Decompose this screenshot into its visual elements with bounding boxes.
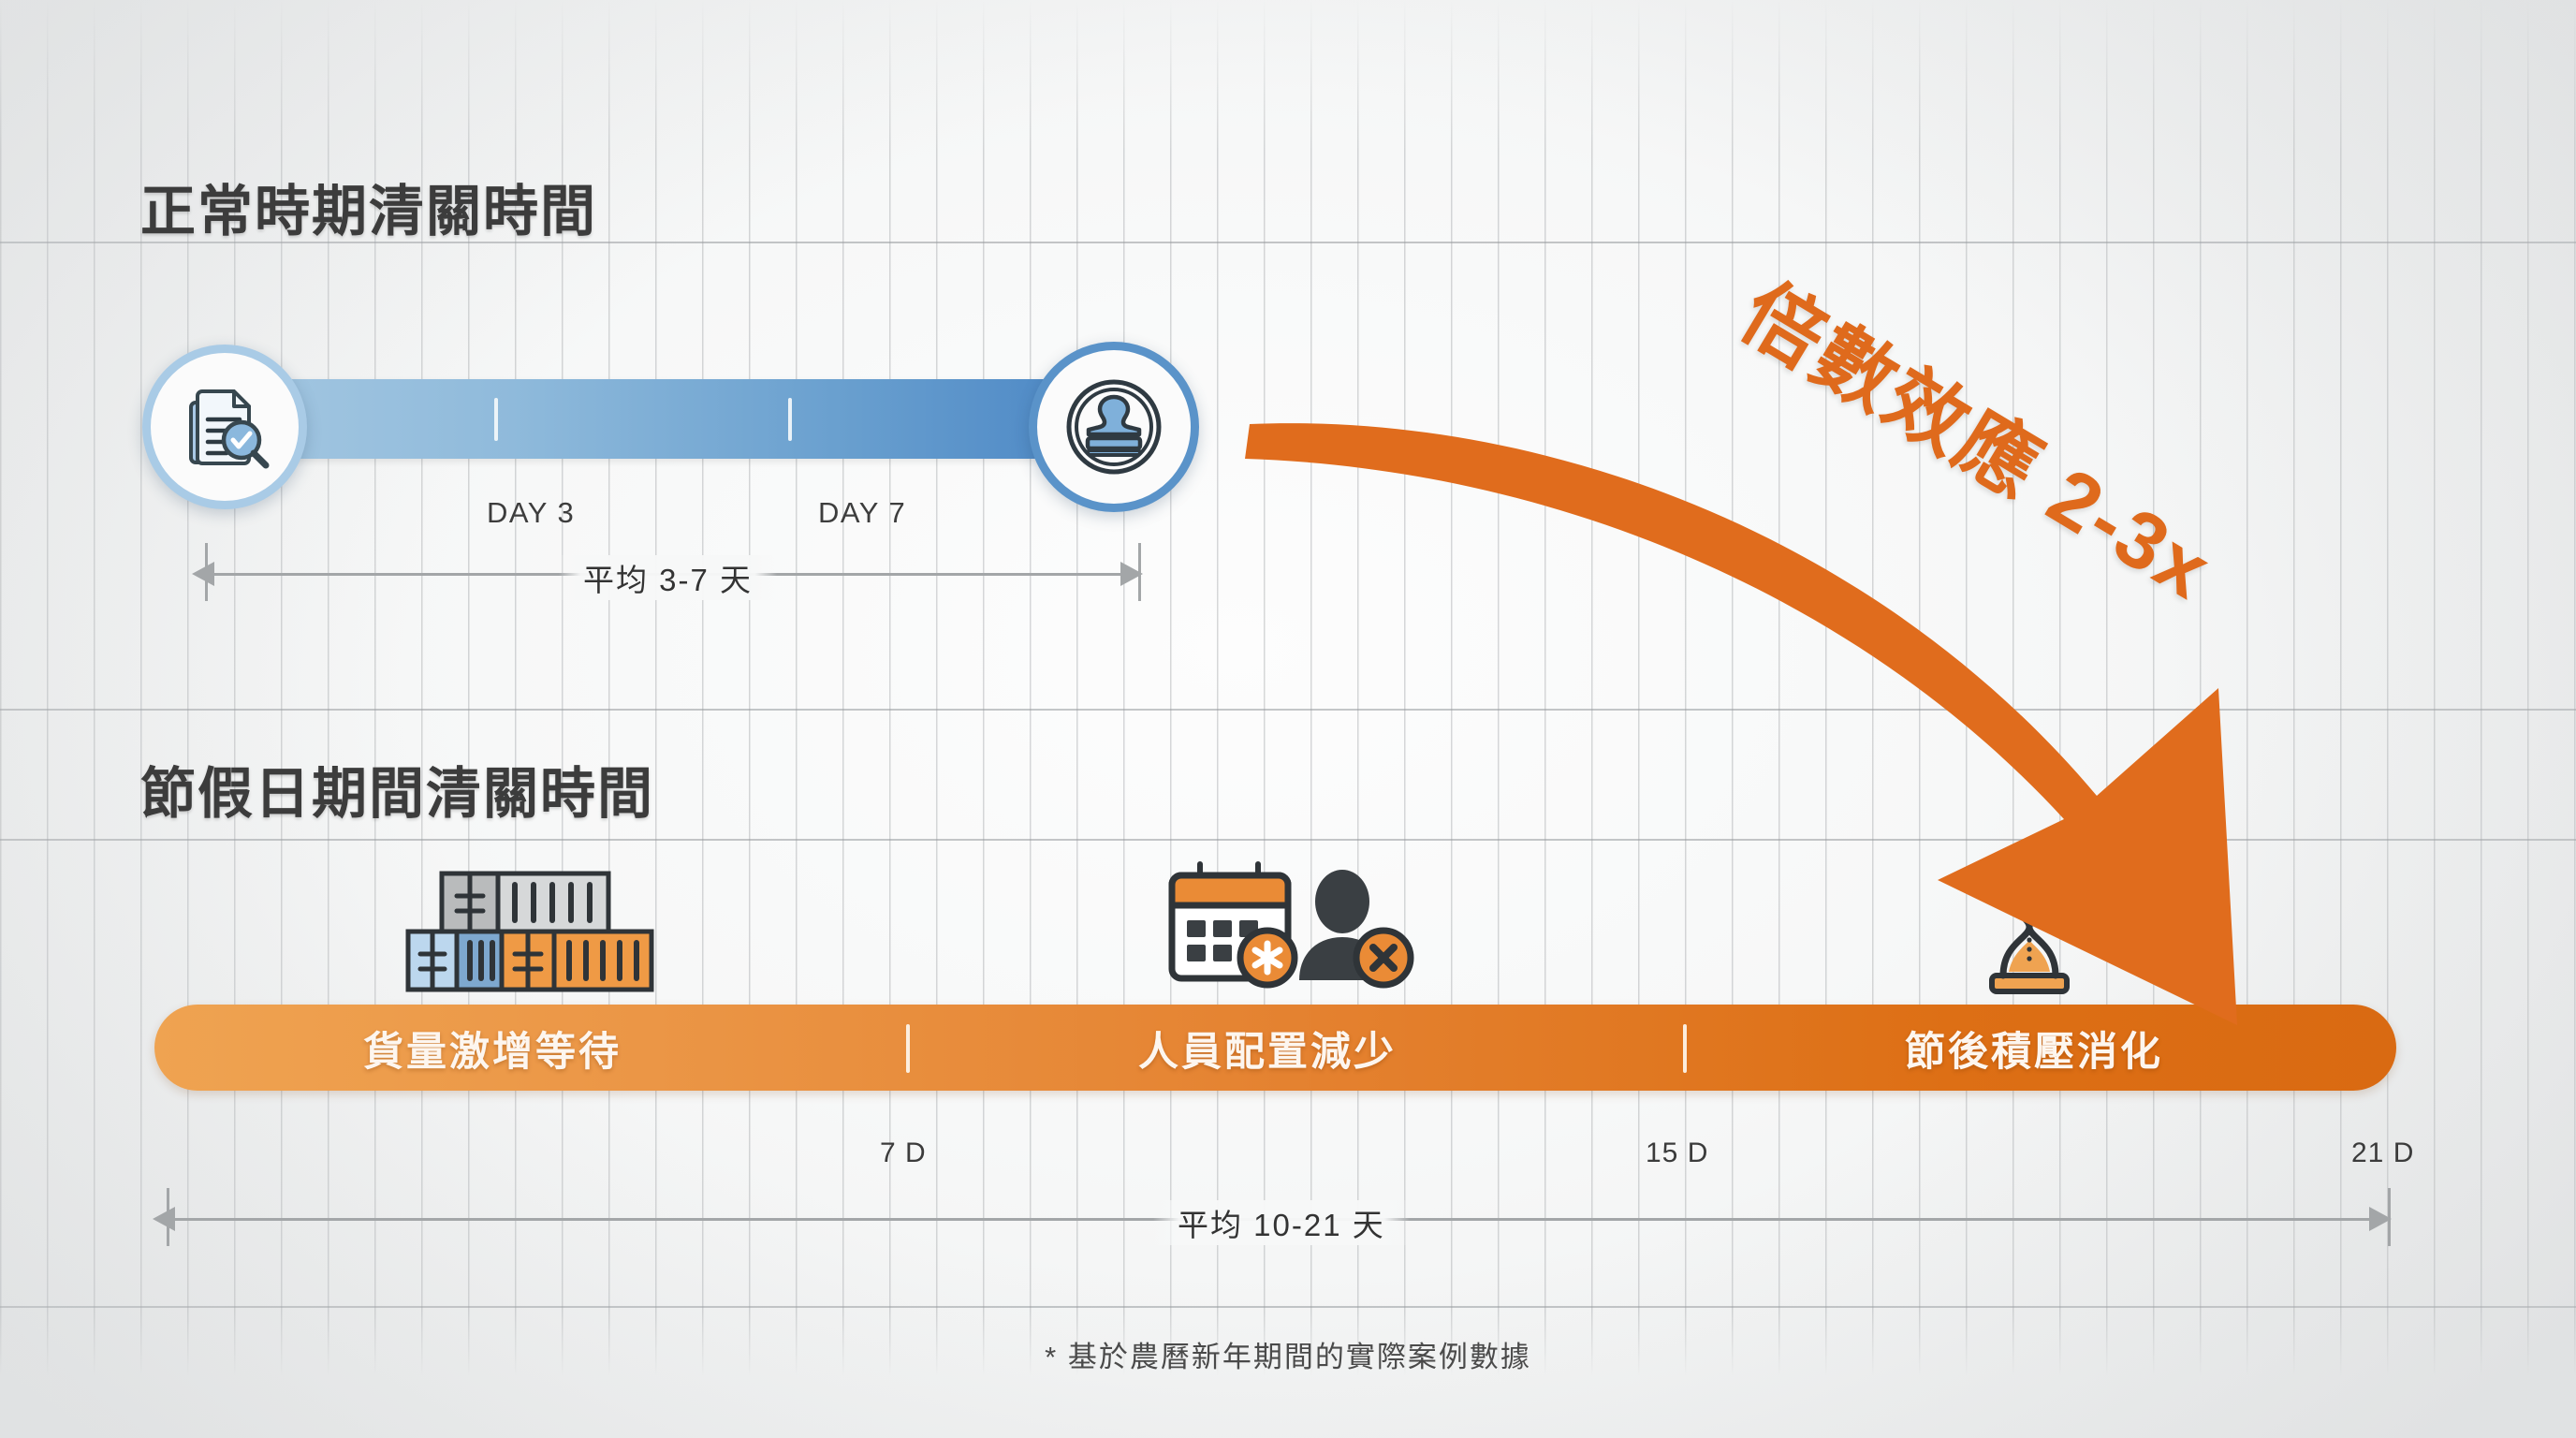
grid-major-line [0, 1306, 2576, 1308]
day-mark-21d: 21 D [2351, 1137, 2414, 1169]
infographic-canvas: 正常時期清關時間 [0, 0, 2576, 1438]
shipping-containers-icon [404, 866, 657, 1011]
day-mark-15d: 15 D [1646, 1137, 1708, 1169]
bar-divider-day7 [788, 398, 792, 441]
segment-label-staffing: 人員配置減少 [1138, 1020, 1397, 1078]
day-mark-7d: 7 D [880, 1137, 927, 1169]
segment-divider-2 [1683, 1024, 1687, 1073]
footnote-text: * 基於農曆新年期間的實際案例數據 [0, 1333, 2576, 1375]
grid-major-line [0, 709, 2576, 711]
stamp-icon [1029, 342, 1199, 512]
bar-divider-day3 [494, 398, 498, 441]
calendar-staff-shortage-icon [1159, 857, 1430, 1011]
segment-divider-1 [906, 1024, 910, 1073]
page-title-normal-period: 正常時期清關時間 [140, 167, 597, 246]
hourglass-icon [1983, 859, 2076, 1000]
page-title-holiday-period: 節假日期間清關時間 [140, 749, 654, 829]
document-check-icon [142, 345, 307, 509]
segment-label-surge: 貨量激增等待 [363, 1020, 622, 1078]
bar-label-day3: DAY 3 [487, 496, 575, 530]
holiday-average-label: 平均 10-21 天 [1153, 1200, 1410, 1245]
grid-major-line [0, 839, 2576, 841]
normal-average-label: 平均 3-7 天 [559, 555, 777, 600]
segment-label-backlog: 節後積壓消化 [1905, 1020, 2163, 1078]
bar-label-day7: DAY 7 [818, 496, 906, 530]
normal-clearance-bar [192, 379, 1109, 459]
